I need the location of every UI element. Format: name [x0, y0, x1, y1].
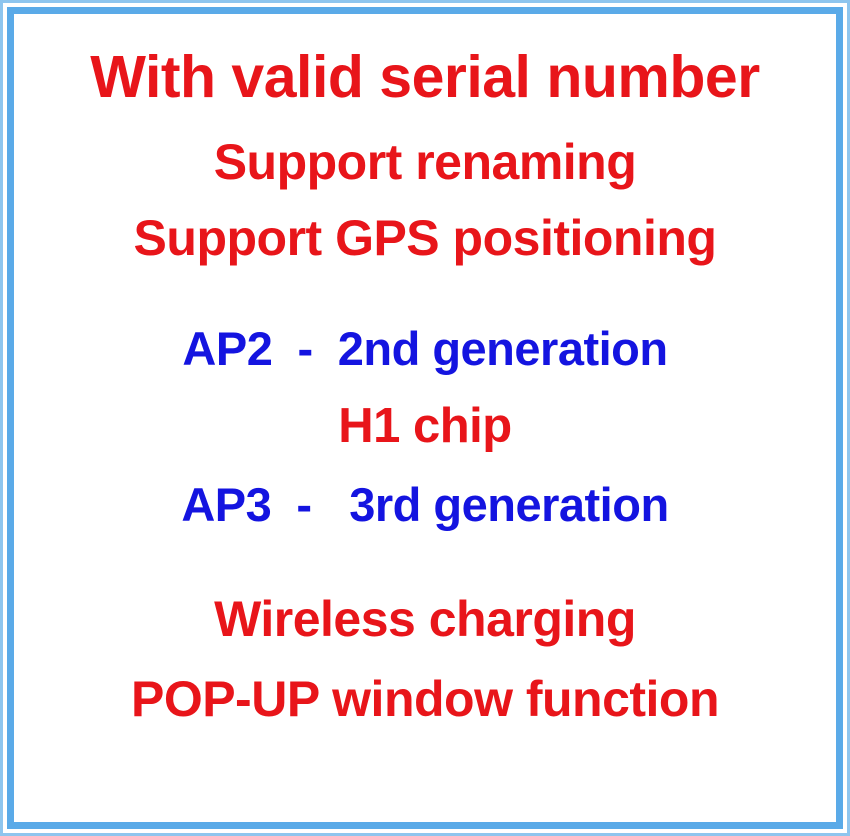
feature-line-ap3-third-generation: AP3 - 3rd generation: [14, 481, 836, 528]
feature-line-support-renaming: Support renaming: [14, 137, 836, 187]
feature-line-h1-chip: H1 chip: [14, 402, 836, 451]
feature-banner: With valid serial number Support renamin…: [0, 0, 850, 836]
feature-line-support-gps-positioning: Support GPS positioning: [14, 213, 836, 263]
feature-banner-inner: With valid serial number Support renamin…: [7, 7, 843, 829]
feature-line-valid-serial-number: With valid serial number: [14, 48, 836, 107]
feature-line-popup-window-function: POP-UP window function: [14, 674, 836, 724]
feature-line-wireless-charging: Wireless charging: [14, 594, 836, 644]
feature-line-ap2-second-generation: AP2 - 2nd generation: [14, 325, 836, 372]
